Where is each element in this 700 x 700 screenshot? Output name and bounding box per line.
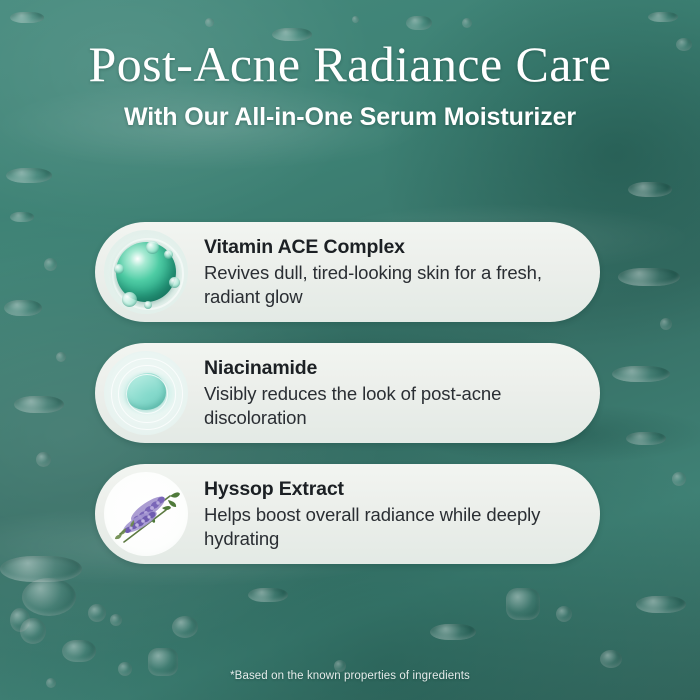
water-bubble [556, 606, 572, 622]
water-bubble [636, 596, 686, 613]
ingredient-card-list: Vitamin ACE Complex Revives dull, tired-… [95, 222, 600, 585]
water-droplet [10, 212, 34, 222]
water-bubble [110, 614, 122, 626]
card-title: Niacinamide [204, 357, 586, 380]
hyssop-sprig-icon [104, 472, 188, 556]
card-text: Hyssop Extract Helps boost overall radia… [188, 478, 600, 551]
water-bubble [430, 624, 476, 640]
bubble-dot [169, 277, 180, 288]
water-bubble [600, 650, 622, 668]
hyssop-sprig-graphic [104, 472, 188, 556]
footnote-disclaimer: *Based on the known properties of ingred… [0, 670, 700, 682]
card-title: Vitamin ACE Complex [204, 236, 586, 259]
water-droplet [660, 318, 672, 330]
water-bubble [506, 588, 540, 620]
water-bubble [0, 556, 82, 582]
water-droplet [44, 258, 57, 271]
header: Post-Acne Radiance Care With Our All-in-… [0, 0, 700, 132]
ingredient-card[interactable]: Vitamin ACE Complex Revives dull, tired-… [95, 222, 600, 322]
water-droplet [4, 300, 42, 316]
water-bubble [248, 588, 288, 602]
water-droplet [36, 452, 51, 467]
card-description: Helps boost overall radiance while deepl… [204, 501, 586, 550]
card-description: Visibly reduces the look of post-acne di… [204, 380, 586, 429]
water-droplet [612, 366, 670, 382]
water-bubble [88, 604, 106, 622]
water-droplet [672, 472, 686, 486]
water-bubble [172, 616, 198, 638]
card-text: Niacinamide Visibly reduces the look of … [188, 357, 600, 430]
water-droplet [6, 168, 52, 183]
water-bubble [20, 618, 46, 644]
bubble-dot [146, 241, 159, 254]
page-subtitle: With Our All-in-One Serum Moisturizer [0, 91, 700, 132]
water-droplet [56, 352, 66, 362]
water-bubble [22, 578, 76, 616]
ingredient-card[interactable]: Hyssop Extract Helps boost overall radia… [95, 464, 600, 564]
card-title: Hyssop Extract [204, 478, 586, 501]
ingredient-card[interactable]: Niacinamide Visibly reduces the look of … [95, 343, 600, 443]
card-text: Vitamin ACE Complex Revives dull, tired-… [188, 236, 600, 309]
page-title: Post-Acne Radiance Care [0, 0, 700, 91]
water-bubble [10, 608, 30, 632]
water-droplet [626, 432, 666, 445]
serum-sphere-icon [104, 230, 188, 314]
bubble-dot [114, 264, 124, 274]
water-droplet [628, 182, 672, 197]
bubble-dot [164, 250, 173, 259]
water-droplet [618, 268, 680, 286]
gel-ripple [126, 374, 168, 415]
water-droplet [14, 396, 64, 413]
gel-blob-icon [104, 351, 188, 435]
card-description: Revives dull, tired-looking skin for a f… [204, 259, 586, 308]
bubble-dot [144, 301, 152, 309]
water-bubble [62, 640, 96, 662]
